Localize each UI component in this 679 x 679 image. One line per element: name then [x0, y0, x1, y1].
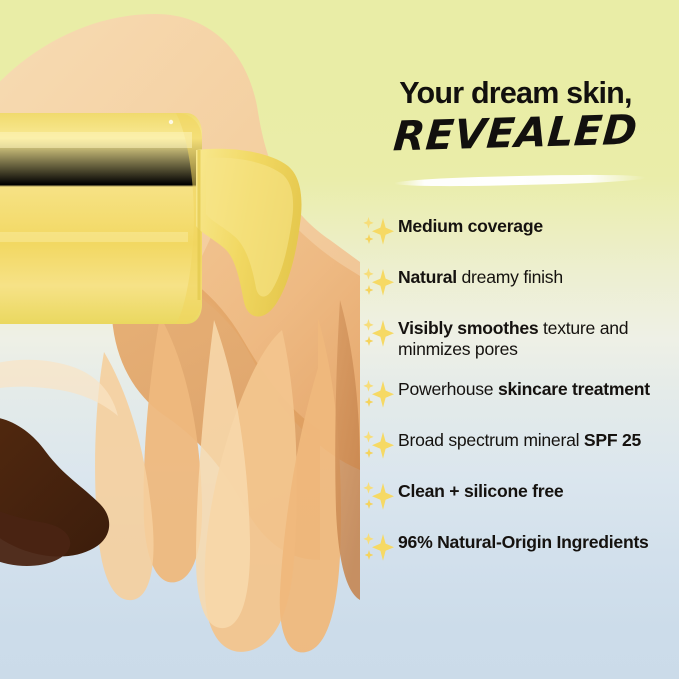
list-item-text: Natural dreamy finish	[398, 265, 679, 288]
list-item: Powerhouse skincare treatment	[360, 377, 679, 412]
list-item-bold: 96% Natural-Origin Ingredients	[398, 532, 649, 552]
list-item-text: Visibly smoothes texture and minmizes po…	[398, 316, 679, 361]
sparkle-icon	[360, 317, 398, 351]
list-item-rest: dreamy finish	[457, 267, 563, 287]
headline-block: Your dream skin, REVEALED	[352, 78, 679, 154]
list-item-text: Medium coverage	[398, 214, 679, 237]
feature-list: Medium coverage Natural dreamy finish	[360, 214, 679, 581]
sparkle-icon	[360, 378, 398, 412]
text-panel: Your dream skin, REVEALED Medium coverag…	[352, 0, 679, 679]
list-item: Medium coverage	[360, 214, 679, 249]
list-item-bold: SPF 25	[584, 430, 641, 450]
tube-specular-dot	[169, 120, 173, 124]
sparkle-icon	[360, 531, 398, 565]
brush-underline	[394, 173, 646, 188]
sparkle-icon	[360, 429, 398, 463]
tube-highlight-top	[0, 132, 192, 148]
list-item-bold: Medium coverage	[398, 216, 543, 236]
list-item-bold: skincare treatment	[498, 379, 650, 399]
list-item-text: Broad spectrum mineral SPF 25	[398, 428, 679, 451]
list-item: 96% Natural-Origin Ingredients	[360, 530, 679, 565]
list-item-text: Clean + silicone free	[398, 479, 679, 502]
list-item-rest: Powerhouse	[398, 379, 498, 399]
list-item-rest: Broad spectrum mineral	[398, 430, 584, 450]
list-item: Visibly smoothes texture and minmizes po…	[360, 316, 679, 361]
tube-highlight-mid	[0, 232, 188, 242]
sparkle-icon	[360, 266, 398, 300]
list-item-bold: Visibly smoothes	[398, 318, 538, 338]
list-item-text: 96% Natural-Origin Ingredients	[398, 530, 679, 553]
list-item: Clean + silicone free	[360, 479, 679, 514]
list-item-bold: Natural	[398, 267, 457, 287]
list-item: Broad spectrum mineral SPF 25	[360, 428, 679, 463]
headline-line-2: REVEALED	[350, 108, 679, 158]
sparkle-icon	[360, 480, 398, 514]
sparkle-icon	[360, 215, 398, 249]
product-artwork	[0, 0, 360, 679]
product-feature-image: Your dream skin, REVEALED Medium coverag…	[0, 0, 679, 679]
list-item-bold: Clean + silicone free	[398, 481, 563, 501]
list-item: Natural dreamy finish	[360, 265, 679, 300]
list-item-text: Powerhouse skincare treatment	[398, 377, 679, 400]
